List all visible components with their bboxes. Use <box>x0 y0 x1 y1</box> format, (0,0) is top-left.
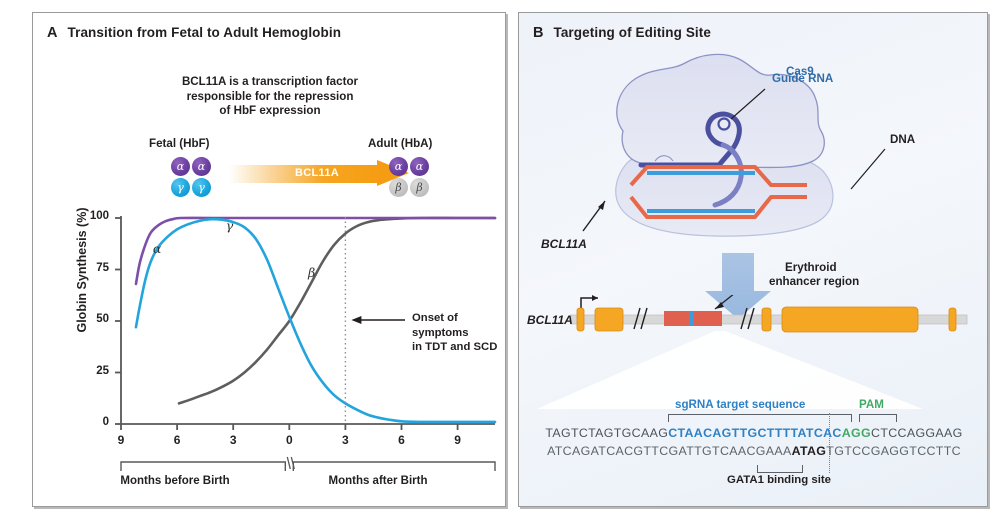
dna-sequence-bottom: ATCAGATCACGTTCGATTGTCAACGAAAATAGTGTCCGAG… <box>519 444 989 458</box>
guide-rna-loop-icon <box>719 119 730 130</box>
curve-label-beta: β <box>308 265 315 280</box>
curve-label-gamma: γ <box>226 218 233 233</box>
exon-3 <box>762 308 771 331</box>
panel-b-header: B Targeting of Editing Site <box>533 25 711 41</box>
exon-2 <box>595 308 623 331</box>
erythroid-label-line-1: Erythroid <box>785 261 837 274</box>
onset-line-2: in TDT and SCD <box>412 340 507 355</box>
sgrna-target-sequence-label: sgRNA target sequence <box>675 398 805 411</box>
panel-a: A Transition from Fetal to Adult Hemoglo… <box>32 12 506 507</box>
editing-site-marker <box>689 311 694 326</box>
cas9-complex-diagram <box>519 45 989 275</box>
axis-caption-after-birth: Months after Birth <box>288 475 468 487</box>
sequence-top-segment-plain-3: CTCCAGGAAG <box>871 426 963 440</box>
sgrna-bracket <box>668 414 852 422</box>
gata1-bracket <box>757 465 803 473</box>
cut-site-dotted-line <box>829 413 830 473</box>
tss-arrowhead-icon <box>592 295 598 301</box>
exon-5 <box>949 308 956 331</box>
bcl11a-label-top: BCL11A <box>541 237 587 251</box>
pam-bracket <box>859 414 897 422</box>
guide-rna-label: Guide RNA <box>772 72 833 85</box>
panel-b: B Targeting of Editing Site <box>518 12 988 507</box>
gata1-binding-site-label: GATA1 binding site <box>699 474 859 486</box>
sequence-bottom-segment-bottom-2: TGTCCGAGGTCCTTC <box>826 444 961 458</box>
onset-line-1: Onset of symptoms <box>412 311 507 340</box>
dna-label: DNA <box>890 133 915 146</box>
erythroid-label-line-2: enhancer region <box>769 275 859 288</box>
panel-b-title: Targeting of Editing Site <box>553 25 711 40</box>
pam-label: PAM <box>859 398 884 411</box>
onset-annotation: Onset of symptoms in TDT and SCD <box>412 311 507 355</box>
sequence-bottom-segment-bottom-0: ATCAGATCACGTTCGATTGTCAACGAAA <box>547 444 792 458</box>
exon-4 <box>782 307 918 332</box>
sequence-top-segment-target-1: CTAACAGTTGCTTTTATCAC <box>668 426 842 440</box>
sequence-top-segment-pam-2: AGG <box>842 426 871 440</box>
dna-sequence-top: TAGTCTAGTGCAAGCTAACAGTTGCTTTTATCACAGGCTC… <box>519 426 989 440</box>
exon-1 <box>577 308 584 331</box>
panel-b-letter: B <box>533 25 543 41</box>
sequence-top-segment-plain-0: TAGTCTAGTGCAAG <box>545 426 668 440</box>
curve-label-alpha: α <box>153 241 161 256</box>
figure-root: A Transition from Fetal to Adult Hemoglo… <box>0 0 1000 522</box>
globin-synthesis-chart: Globin Synthesis (%) 0255075100 9630369 … <box>33 13 507 508</box>
axis-caption-before-birth: Months before Birth <box>85 475 265 487</box>
bcl11a-label-bottom: BCL11A <box>527 313 573 327</box>
sequence-bottom-segment-gata-1: ATAG <box>792 444 827 458</box>
chart-plot-area <box>33 13 507 508</box>
